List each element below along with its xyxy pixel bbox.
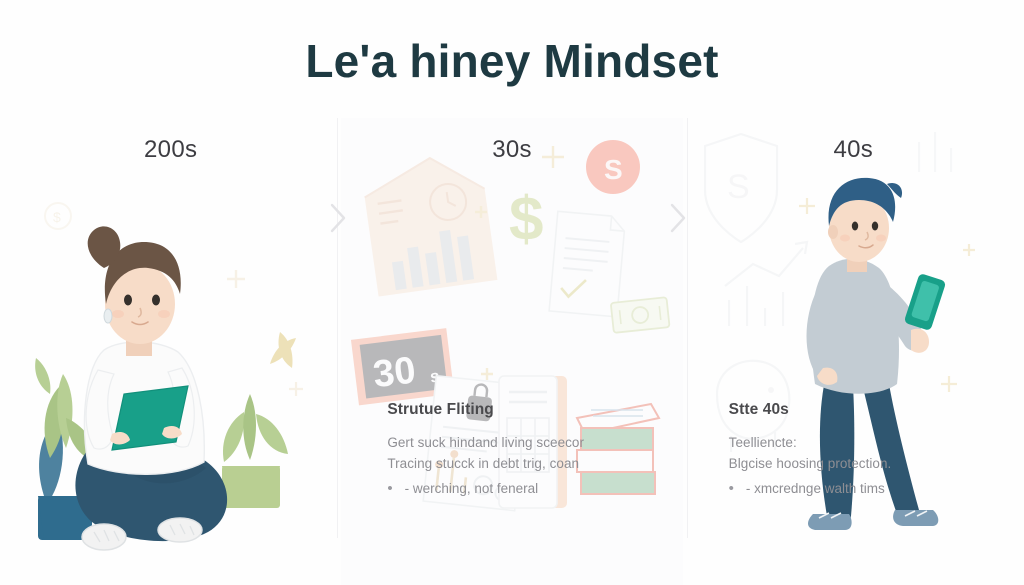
svg-text:S: S: [604, 154, 623, 185]
text-bullet-40s-1: • - xmcrednge walth tims: [729, 478, 1019, 499]
chevron-right-icon-2: [665, 200, 691, 236]
plant-right-graphic: [222, 332, 296, 508]
text-block-30s: Strutue Fliting Gert suck hindand living…: [387, 401, 677, 499]
column-divider-2: [687, 118, 688, 538]
column-40s: 40s S: [683, 118, 1024, 585]
bullet-text-30s-1: - werching, not feneral: [405, 478, 539, 499]
bullet-text-40s-1: - xmcrednge walth tims: [746, 478, 885, 499]
column-divider-1: [337, 118, 338, 538]
illustration-seated-person-reading-tablet: $: [0, 118, 341, 585]
dollar-sign-graphic: $: [509, 185, 543, 254]
text-heading-30s: Strutue Fliting: [387, 401, 677, 419]
house-chart-graphic: [361, 151, 498, 296]
column-30s: 30s: [341, 118, 682, 585]
bullet-dot-icon: •: [729, 478, 734, 499]
chevron-right-icon-1: [325, 200, 351, 236]
seated-person-graphic: [75, 226, 227, 550]
bullet-dot-icon: •: [387, 478, 392, 499]
text-block-40s: Stte 40s Teelliencte: Blgcise hoosing pr…: [729, 401, 1019, 499]
illustration-walking-person-with-phone: S: [683, 118, 1024, 585]
text-bullet-30s-1: • - werching, not feneral: [387, 478, 677, 499]
columns-container: 200s $: [0, 118, 1024, 585]
text-line-40s-1: Teelliencte:: [729, 432, 1019, 453]
svg-text:$: $: [53, 209, 61, 225]
coin-graphic: S: [586, 140, 640, 194]
page-title: Le'a hiney Mindset: [0, 34, 1024, 88]
text-line-30s-2: Tracing stucck in debt trig, coan: [387, 453, 677, 474]
illustration-finance-collage-faded: $ S: [341, 118, 682, 585]
text-line-40s-2: Blgcise hoosing protection.: [729, 453, 1019, 474]
svg-text:30: 30: [371, 349, 418, 396]
text-heading-40s: Stte 40s: [729, 401, 1019, 419]
text-line-30s-1: Gert suck hindand living sceecor: [387, 432, 677, 453]
column-20s: 200s $: [0, 118, 341, 585]
slide-root: Le'a hiney Mindset 200s $: [0, 0, 1024, 585]
svg-text:S: S: [727, 168, 750, 206]
banknote-graphic: [611, 297, 670, 333]
document-graphic: [549, 211, 625, 317]
svg-text:$: $: [509, 185, 543, 254]
